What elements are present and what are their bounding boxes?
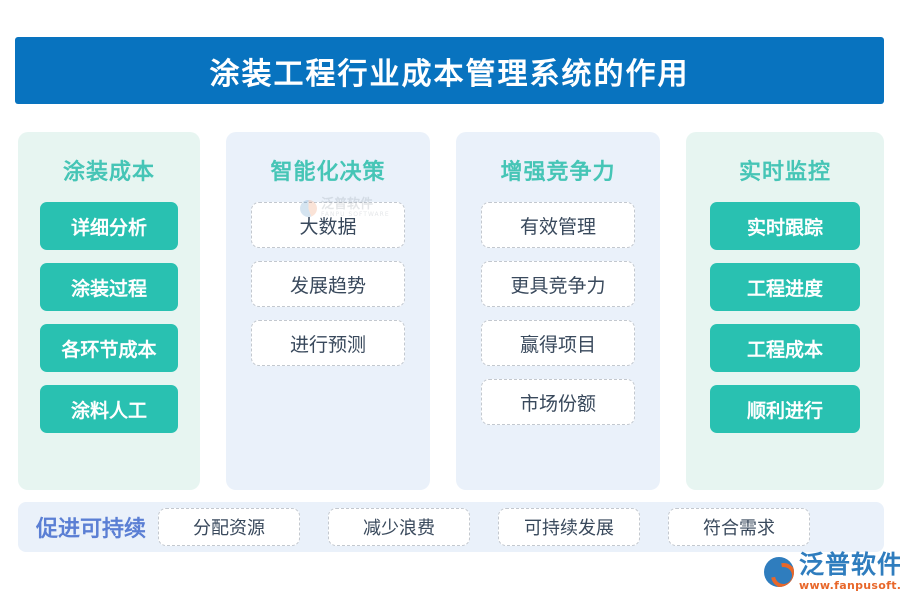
- chip-item[interactable]: 详细分析: [40, 202, 178, 250]
- chip-item[interactable]: 顺利进行: [710, 385, 860, 433]
- page-title-bar: 涂装工程行业成本管理系统的作用: [15, 37, 884, 104]
- column-panel-1: 涂装成本 详细分析 涂装过程 各环节成本 涂料人工: [18, 132, 200, 490]
- column-heading-2: 智能化决策: [270, 154, 385, 186]
- chip-item[interactable]: 更具竞争力: [481, 261, 635, 307]
- chip-item[interactable]: 有效管理: [481, 202, 635, 248]
- bottom-chip-item[interactable]: 分配资源: [158, 508, 300, 546]
- columns-container: 涂装成本 详细分析 涂装过程 各环节成本 涂料人工 智能化决策 大数据 发展趋势…: [0, 132, 900, 490]
- page-title: 涂装工程行业成本管理系统的作用: [210, 49, 690, 93]
- bottom-items: 分配资源 减少浪费 可持续发展 符合需求: [158, 508, 810, 546]
- chip-item[interactable]: 市场份额: [481, 379, 635, 425]
- column-heading-3: 增强竞争力: [500, 154, 615, 186]
- bottom-chip-item[interactable]: 可持续发展: [498, 508, 640, 546]
- column-heading-1: 涂装成本: [63, 154, 155, 186]
- bottom-heading: 促进可持续: [36, 511, 146, 543]
- chip-item[interactable]: 工程进度: [710, 263, 860, 311]
- chip-item[interactable]: 工程成本: [710, 324, 860, 372]
- chip-item[interactable]: 进行预测: [251, 320, 405, 366]
- chip-item[interactable]: 大数据: [251, 202, 405, 248]
- column-panel-3: 增强竞争力 有效管理 更具竞争力 赢得项目 市场份额: [456, 132, 660, 490]
- chip-item[interactable]: 涂装过程: [40, 263, 178, 311]
- column-heading-4: 实时监控: [739, 154, 831, 186]
- chip-item[interactable]: 赢得项目: [481, 320, 635, 366]
- column-panel-2: 智能化决策 大数据 发展趋势 进行预测: [226, 132, 430, 490]
- column-items-2: 大数据 发展趋势 进行预测: [226, 202, 430, 379]
- brand-logo-text: 泛普软件 www.fanpusoft.com: [799, 552, 900, 591]
- bottom-chip-item[interactable]: 减少浪费: [328, 508, 470, 546]
- brand-name: 泛普软件: [799, 552, 900, 577]
- bottom-bar: 促进可持续 分配资源 减少浪费 可持续发展 符合需求: [18, 502, 884, 552]
- chip-item[interactable]: 发展趋势: [251, 261, 405, 307]
- brand-logo-icon: [764, 557, 794, 587]
- brand-url: www.fanpusoft.com: [799, 580, 900, 591]
- bottom-chip-item[interactable]: 符合需求: [668, 508, 810, 546]
- column-items-3: 有效管理 更具竞争力 赢得项目 市场份额: [456, 202, 660, 438]
- column-items-4: 实时跟踪 工程进度 工程成本 顺利进行: [686, 202, 884, 446]
- column-items-1: 详细分析 涂装过程 各环节成本 涂料人工: [18, 202, 200, 446]
- brand-logo: 泛普软件 www.fanpusoft.com: [764, 552, 900, 591]
- chip-item[interactable]: 实时跟踪: [710, 202, 860, 250]
- column-panel-4: 实时监控 实时跟踪 工程进度 工程成本 顺利进行: [686, 132, 884, 490]
- chip-item[interactable]: 涂料人工: [40, 385, 178, 433]
- chip-item[interactable]: 各环节成本: [40, 324, 178, 372]
- infographic-canvas: 涂装工程行业成本管理系统的作用 涂装成本 详细分析 涂装过程 各环节成本 涂料人…: [0, 0, 900, 600]
